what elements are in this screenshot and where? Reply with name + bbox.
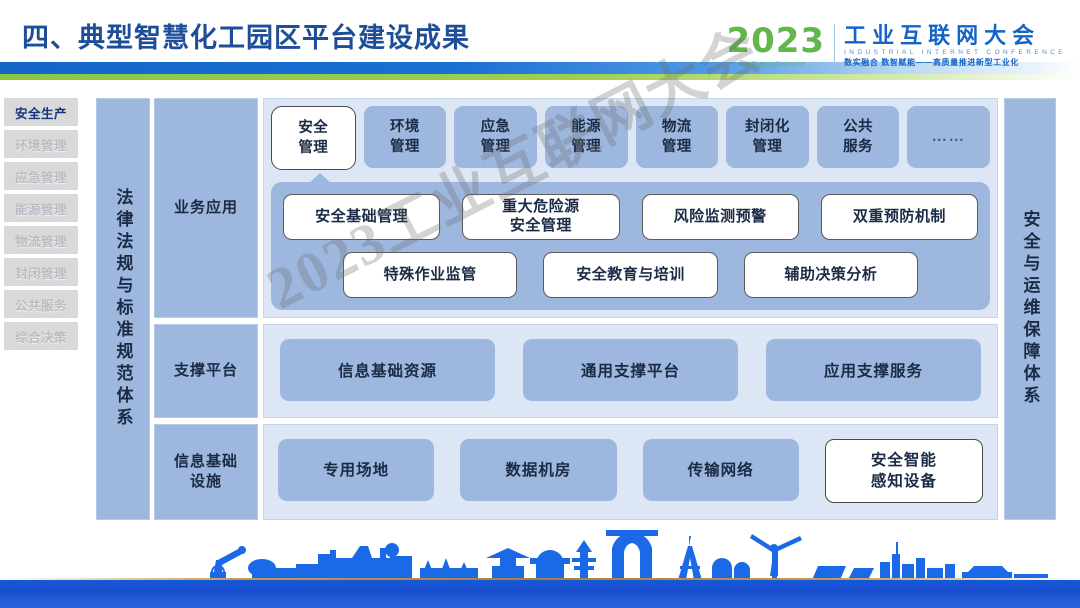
business-apps-panel: 安全基础管理 重大危险源安全管理 风险监测预警 双重预防机制 特殊作业监管 安全… <box>271 182 990 310</box>
app-card-major-hazard-safety-management[interactable]: 重大危险源安全管理 <box>462 194 619 240</box>
infra-card-data-center-room[interactable]: 数据机房 <box>460 439 616 501</box>
layer-support-body: 信息基础资源 通用支撑平台 应用支撑服务 <box>263 324 998 418</box>
logo-text-block: 工业互联网大会 INDUSTRIAL INTERNET CONFERENCE 数… <box>844 24 1066 68</box>
support-card-application-support-service[interactable]: 应用支撑服务 <box>766 339 981 401</box>
module-card-public-service[interactable]: 公共服务 <box>817 106 900 168</box>
footer-water-band <box>0 580 1080 608</box>
business-apps-row-2: 特殊作业监管 安全教育与培训 辅助决策分析 <box>343 252 918 298</box>
sidebar-tab-rail: 安全生产 环境管理 应急管理 能源管理 物流管理 封闭管理 公共服务 综合决策 <box>4 98 78 354</box>
layer-infrastructure-label: 信息基础设施 <box>154 424 258 520</box>
app-card-decision-support-analysis[interactable]: 辅助决策分析 <box>744 252 918 298</box>
sidebar-item-emergency[interactable]: 应急管理 <box>4 162 78 190</box>
connector-arrow-up-icon <box>309 173 331 183</box>
layer-business-application: 业务应用 安全管理 环境管理 应急管理 能源管理 物流管理 封闭化管理 公共服务… <box>154 98 998 318</box>
module-card-logistics-management[interactable]: 物流管理 <box>636 106 719 168</box>
support-card-information-base-resource[interactable]: 信息基础资源 <box>280 339 495 401</box>
infrastructure-card-row: 专用场地 数据机房 传输网络 安全智能感知设备 <box>278 439 983 503</box>
page-title: 四、典型智慧化工园区平台建设成果 <box>22 16 470 55</box>
infra-card-safety-smart-sensing-device[interactable]: 安全智能感知设备 <box>825 439 983 503</box>
layer-infrastructure: 信息基础设施 专用场地 数据机房 传输网络 安全智能感知设备 <box>154 424 998 520</box>
pillar-security-ops-label: 安全与运维保障体系 <box>1022 210 1039 408</box>
layer-support-platform: 支撑平台 信息基础资源 通用支撑平台 应用支撑服务 <box>154 324 998 418</box>
sidebar-item-public-service[interactable]: 公共服务 <box>4 290 78 318</box>
app-card-dual-prevention-mechanism[interactable]: 双重预防机制 <box>821 194 978 240</box>
module-card-energy-management[interactable]: 能源管理 <box>545 106 628 168</box>
logo-slogan: 数实融合 数智赋能——高质量推进新型工业化 <box>844 57 1066 68</box>
support-card-row: 信息基础资源 通用支撑平台 应用支撑服务 <box>280 339 981 401</box>
module-card-safety-management[interactable]: 安全管理 <box>271 106 356 170</box>
sidebar-item-closed-management[interactable]: 封闭管理 <box>4 258 78 286</box>
logo-year-subtitle: 中国·苏州 9月19日-22日 <box>726 61 825 68</box>
app-card-safety-basic-management[interactable]: 安全基础管理 <box>283 194 440 240</box>
pillar-security-ops: 安全与运维保障体系 <box>1004 98 1056 520</box>
layer-support-label: 支撑平台 <box>154 324 258 418</box>
infra-card-dedicated-site[interactable]: 专用场地 <box>278 439 434 501</box>
pillar-legal-standards-label: 法律法规与标准规范体系 <box>115 188 132 430</box>
support-card-general-support-platform[interactable]: 通用支撑平台 <box>523 339 738 401</box>
sidebar-item-logistics[interactable]: 物流管理 <box>4 226 78 254</box>
logo-divider <box>834 24 835 66</box>
layer-business-label: 业务应用 <box>154 98 258 318</box>
footer-skyline <box>0 538 1080 608</box>
app-card-safety-education-training[interactable]: 安全教育与培训 <box>543 252 717 298</box>
module-card-environment-management[interactable]: 环境管理 <box>364 106 447 168</box>
module-card-emergency-management[interactable]: 应急管理 <box>454 106 537 168</box>
logo-year-block: 2023 中国·苏州 9月19日-22日 <box>726 24 825 68</box>
sidebar-item-comprehensive-decision[interactable]: 综合决策 <box>4 322 78 350</box>
sidebar-item-safety-production[interactable]: 安全生产 <box>4 98 78 126</box>
conference-logo: 2023 中国·苏州 9月19日-22日 工业互联网大会 INDUSTRIAL … <box>726 24 1066 76</box>
pillar-legal-standards: 法律法规与标准规范体系 <box>96 98 150 520</box>
business-apps-row-1: 安全基础管理 重大危险源安全管理 风险监测预警 双重预防机制 <box>283 194 978 240</box>
module-card-row: 安全管理 环境管理 应急管理 能源管理 物流管理 封闭化管理 公共服务 …… <box>271 106 990 170</box>
logo-year: 2023 <box>726 24 825 58</box>
sidebar-item-energy[interactable]: 能源管理 <box>4 194 78 222</box>
logo-name-en: INDUSTRIAL INTERNET CONFERENCE <box>844 48 1066 57</box>
layer-stack: 业务应用 安全管理 环境管理 应急管理 能源管理 物流管理 封闭化管理 公共服务… <box>154 98 998 520</box>
architecture-diagram: 法律法规与标准规范体系 安全与运维保障体系 业务应用 安全管理 环境管理 应急管… <box>96 98 1056 520</box>
module-card-more-ellipsis[interactable]: …… <box>907 106 990 168</box>
app-card-risk-monitoring-warning[interactable]: 风险监测预警 <box>642 194 799 240</box>
skyline-silhouette-icon <box>0 528 1080 580</box>
logo-name-cn: 工业互联网大会 <box>844 24 1066 48</box>
module-card-closed-management[interactable]: 封闭化管理 <box>726 106 809 168</box>
infra-card-transmission-network[interactable]: 传输网络 <box>643 439 799 501</box>
app-card-special-operation-supervision[interactable]: 特殊作业监管 <box>343 252 517 298</box>
layer-infrastructure-body: 专用场地 数据机房 传输网络 安全智能感知设备 <box>263 424 998 520</box>
layer-business-body: 安全管理 环境管理 应急管理 能源管理 物流管理 封闭化管理 公共服务 …… 安… <box>263 98 998 318</box>
slide-canvas: 四、典型智慧化工园区平台建设成果 2023 中国·苏州 9月19日-22日 工业… <box>0 0 1080 608</box>
sidebar-item-environment[interactable]: 环境管理 <box>4 130 78 158</box>
